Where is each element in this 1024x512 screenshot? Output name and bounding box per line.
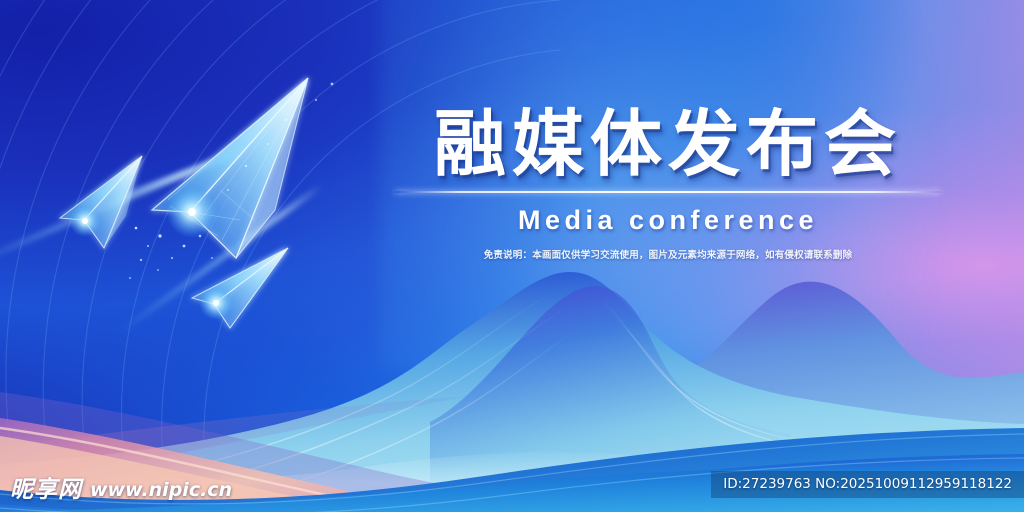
nipic-logo: 昵享网 [10, 479, 82, 502]
site-watermark: 昵享网 www.nipic.cn [10, 479, 232, 502]
disclaimer-text: 免责说明：本画面仅供学习交流使用，图片及元素均来源于网络，如有侵权请联系删除 [390, 247, 946, 261]
banner-canvas: 融媒体发布会 Media conference 免责说明：本画面仅供学习交流使用… [0, 0, 1024, 512]
title-divider [395, 191, 941, 193]
status-badge: ID:27239763 NO:20251009112959118122 [711, 471, 1024, 498]
nipic-url: www.nipic.cn [90, 481, 232, 500]
page-title: 融媒体发布会 [390, 108, 946, 180]
mountain-wave-graphic [0, 232, 1024, 512]
page-subtitle: Media conference [390, 205, 946, 236]
title-block: 融媒体发布会 Media conference 免责说明：本画面仅供学习交流使用… [390, 108, 946, 261]
